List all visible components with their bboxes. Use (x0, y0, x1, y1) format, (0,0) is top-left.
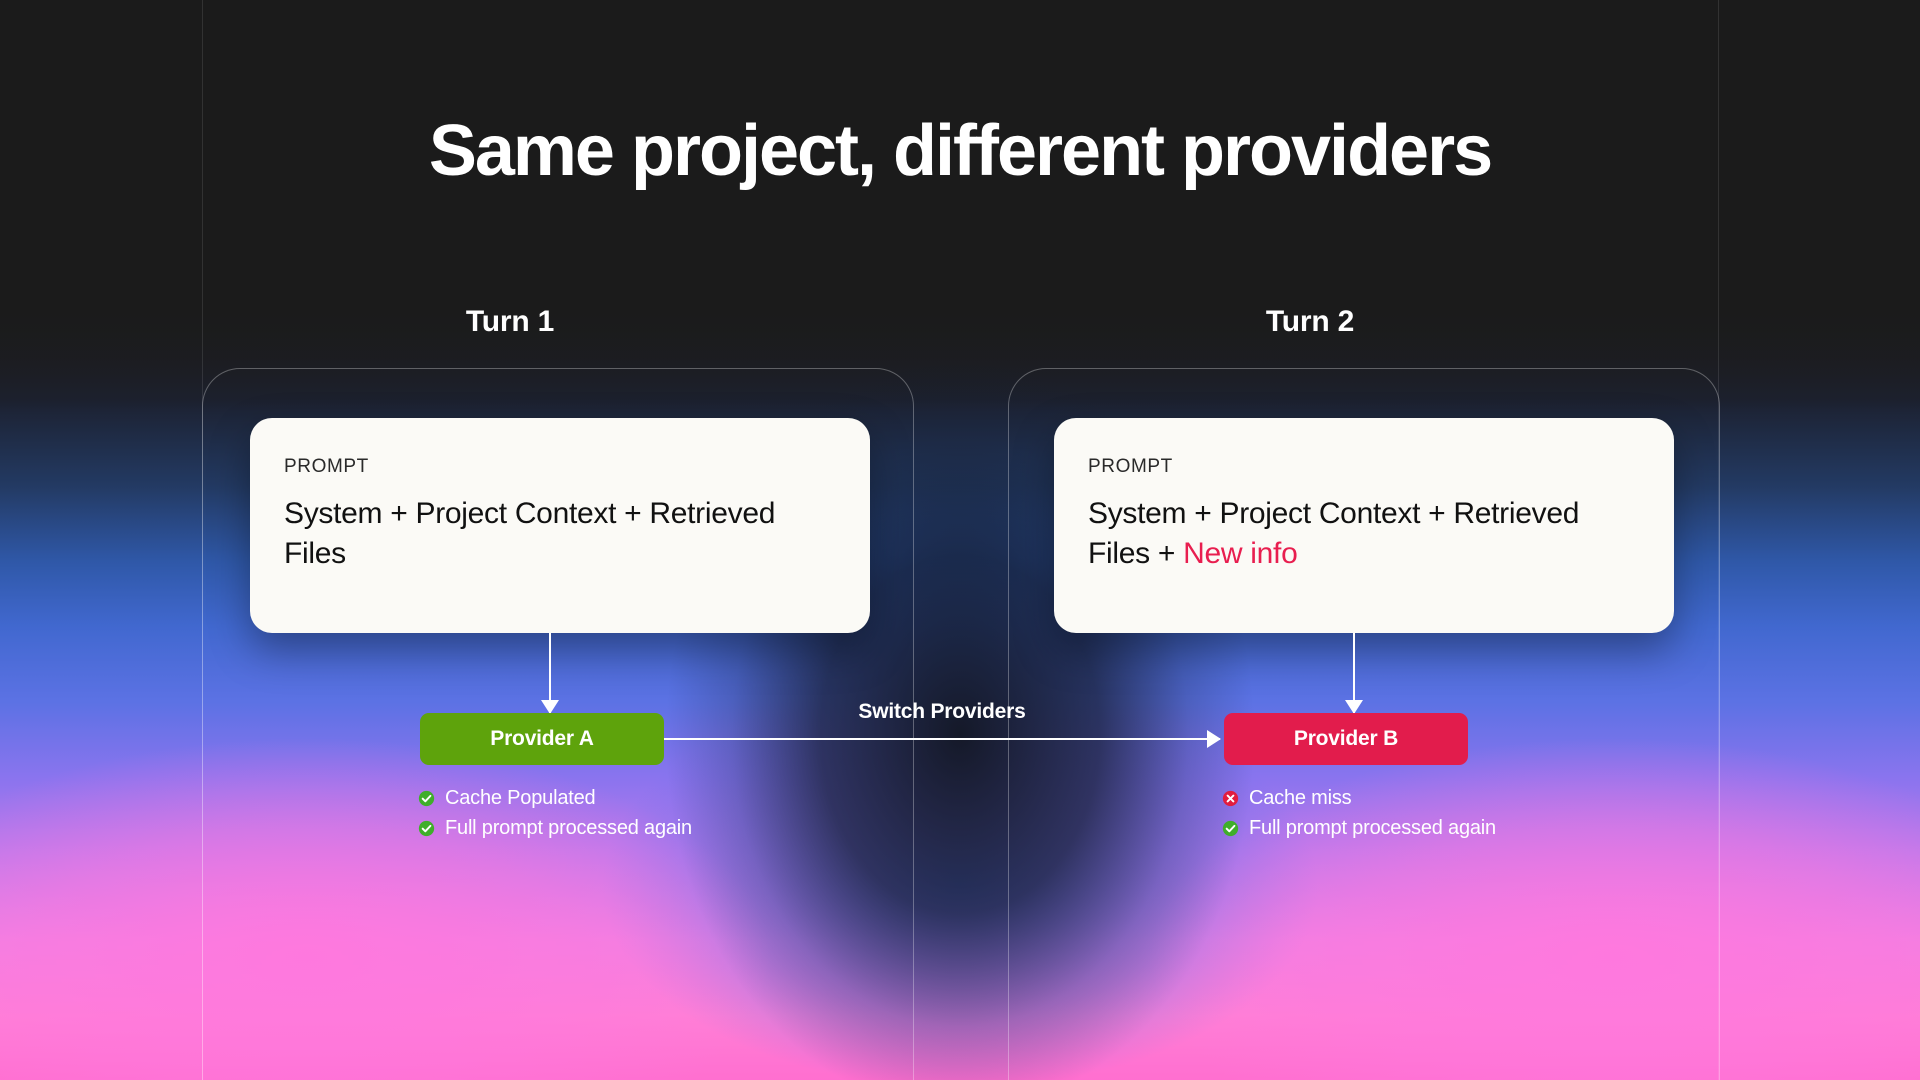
status-row: Full prompt processed again (1222, 816, 1496, 841)
status-label: Full prompt processed again (1249, 817, 1496, 840)
turn-2-prompt-card: PROMPT System + Project Context + Retrie… (1054, 418, 1674, 633)
prompt-kicker: PROMPT (284, 456, 836, 478)
prompt-kicker: PROMPT (1088, 456, 1640, 478)
provider-a-label: Provider A (490, 727, 593, 751)
status-label: Cache miss (1249, 787, 1351, 810)
provider-b-label: Provider B (1294, 727, 1398, 751)
turn-1-prompt-card: PROMPT System + Project Context + Retrie… (250, 418, 870, 633)
x-circle-icon (1222, 790, 1239, 807)
turn-1-status-list: Cache Populated Full prompt processed ag… (418, 786, 692, 846)
status-label: Cache Populated (445, 787, 595, 810)
turn-1-label: Turn 1 (310, 305, 710, 339)
status-label: Full prompt processed again (445, 817, 692, 840)
check-circle-icon (1222, 820, 1239, 837)
status-row: Full prompt processed again (418, 816, 692, 841)
turn-1-down-arrow-icon (549, 633, 551, 713)
turn-2-down-arrow-icon (1353, 633, 1355, 713)
check-circle-icon (418, 790, 435, 807)
prompt-body: System + Project Context + Retrieved Fil… (1088, 494, 1640, 574)
turn-2-status-list: Cache miss Full prompt processed again (1222, 786, 1496, 846)
slide-canvas: Same project, different providers Turn 1… (0, 0, 1920, 1080)
prompt-body-highlight: New info (1183, 537, 1297, 570)
status-row: Cache Populated (418, 786, 692, 811)
provider-a-button[interactable]: Provider A (420, 713, 664, 765)
page-title: Same project, different providers (0, 110, 1920, 192)
status-row: Cache miss (1222, 786, 1496, 811)
prompt-body: System + Project Context + Retrieved Fil… (284, 494, 836, 574)
provider-b-button[interactable]: Provider B (1224, 713, 1468, 765)
turn-2-label: Turn 2 (1110, 305, 1510, 339)
prompt-body-text: System + Project Context + Retrieved Fil… (1088, 497, 1579, 570)
prompt-body-text: System + Project Context + Retrieved Fil… (284, 497, 775, 570)
check-circle-icon (418, 820, 435, 837)
